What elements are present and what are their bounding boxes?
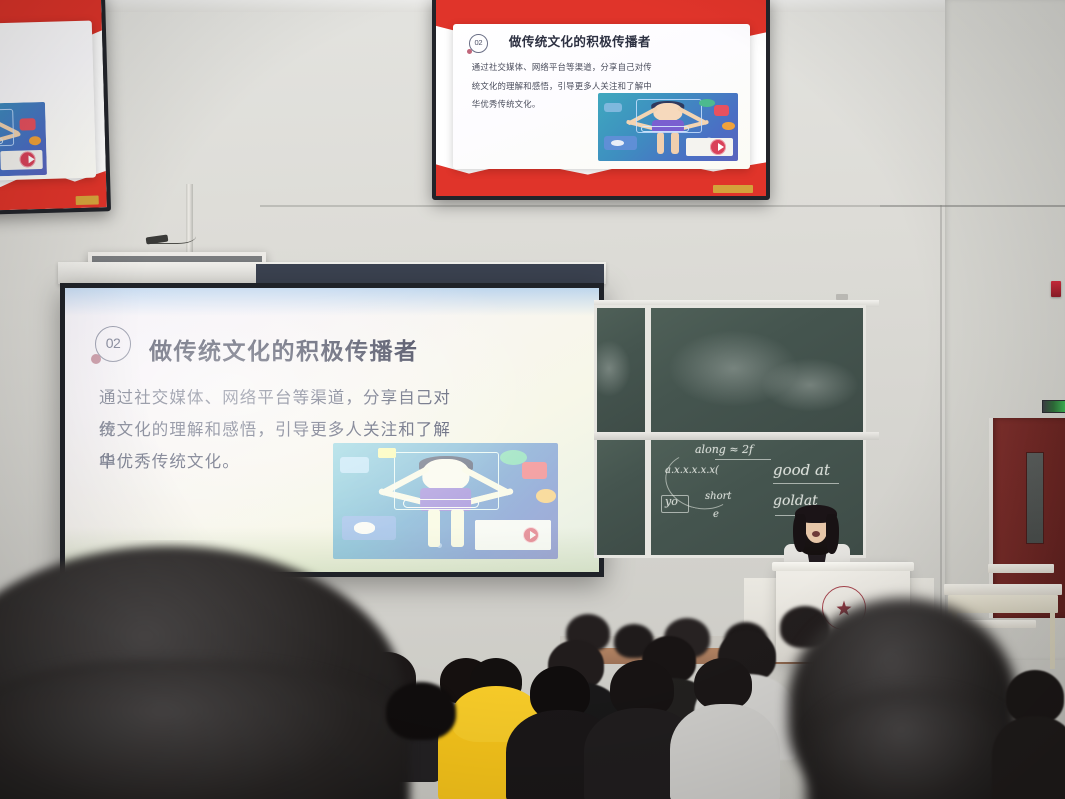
monitor-left-slide-card: 对传 解中 [0,21,96,183]
projected-slide-number-badge: 02 [95,326,131,362]
audience-head [694,658,752,710]
chalk-note: good at [773,461,830,479]
monitor-left-text-line-1: 对传 [0,52,90,72]
slide-body-line-1: 通过社交媒体、网络平台等渠道，分享自己对传 [472,60,710,74]
blackboard-rail-bottom [594,432,879,440]
screen-top-tint [65,288,599,316]
slide-illustration [598,93,738,161]
exit-sign-icon [1042,400,1065,413]
monitor-top-amber-marker [713,185,753,193]
monitor-left-illustration [0,102,47,178]
door-window-panel [1026,452,1044,544]
slide-title: 做传统文化的积极传播者 [509,31,651,50]
monitor-left-amber-marker [75,196,99,205]
monitor-top-screen: 02 做传统文化的积极传播者 通过社交媒体、网络平台等渠道，分享自己对传 统文化… [436,0,766,196]
lecture-hall-photo: 对传 解中 [0,0,1065,799]
chalk-boxed-note [661,495,689,513]
slide-body-line-2: 统文化的理解和感悟，引导更多人关注和了解中 [472,79,710,93]
audience-area [0,540,1065,799]
chalk-note: e [713,509,719,520]
monitor-top-slide-card: 02 做传统文化的积极传播者 通过社交媒体、网络平台等渠道，分享自己对传 统文化… [453,24,750,169]
chalk-underline [773,483,839,484]
speaker-mouth [812,531,820,537]
audience-head-foreground-left-mass [0,660,410,799]
projected-slide-title: 做传统文化的积极传播者 [149,332,419,366]
wall-seam-mid [880,205,1065,207]
projector-mount-pole [186,184,193,254]
audience-head [386,682,456,740]
blackboard-panel [594,305,648,435]
wall-monitor-left: 对传 解中 [0,0,111,217]
slide-number-badge: 02 [469,34,488,53]
audience-grey-hoodie [670,704,780,799]
fire-alarm-icon [1051,281,1061,297]
blackboard-panel [648,305,866,435]
monitor-left-screen: 对传 解中 [0,0,107,213]
audience-shoulders [992,716,1065,799]
blackboard-clip [836,294,848,300]
monitor-left-text-line-2: 解中 [0,78,90,98]
audience-head-foreground-right-lower [806,690,1018,799]
wall-monitor-top-center: 02 做传统文化的积极传播者 通过社交媒体、网络平台等渠道，分享自己对传 统文化… [432,0,770,200]
projection-screen-surface: 02 做传统文化的积极传播者 通过社交媒体、网络平台等渠道，分享自己对传 统文化… [65,288,599,572]
